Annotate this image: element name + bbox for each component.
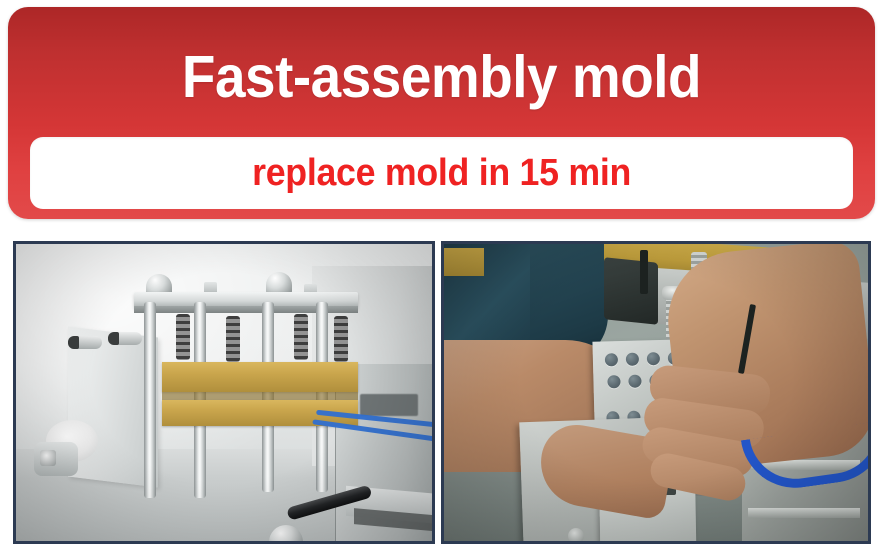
mold-cavity [607,375,620,388]
mold-cavity [626,353,639,366]
frame-rail [748,508,860,518]
guide-column [144,302,156,498]
mold-cavity [628,375,641,388]
subtitle-panel: replace mold in 15 min [30,137,853,209]
mold-cavity [647,352,660,365]
photo-gallery: 警 告 WARNING 设备运行 当心夹手 Equipment operatio… [13,241,871,544]
subtitle-text: replace mold in 15 min [252,152,631,195]
spring-icon [294,314,308,360]
yellow-heater-bar-left [444,248,484,276]
machine-dark-recess [604,257,658,325]
machine-dark-recess [360,394,418,416]
spring-icon [334,316,348,362]
mold-cavity [605,353,618,366]
film-roll-nut [40,450,56,466]
screw-head-icon [568,528,584,544]
photo-packaging-machine: 警 告 WARNING 设备运行 当心夹手 Equipment operatio… [13,241,435,544]
power-cable [640,250,648,294]
promo-banner: Fast-assembly mold replace mold in 15 mi… [8,7,875,219]
spring-icon [176,314,190,360]
page-title: Fast-assembly mold [38,24,844,129]
golden-mold-plate [162,362,358,392]
pneumatic-fitting-icon [108,332,142,345]
photo-mold-replacement [441,241,871,544]
pneumatic-fitting-icon [68,336,102,349]
spring-icon [226,316,240,362]
